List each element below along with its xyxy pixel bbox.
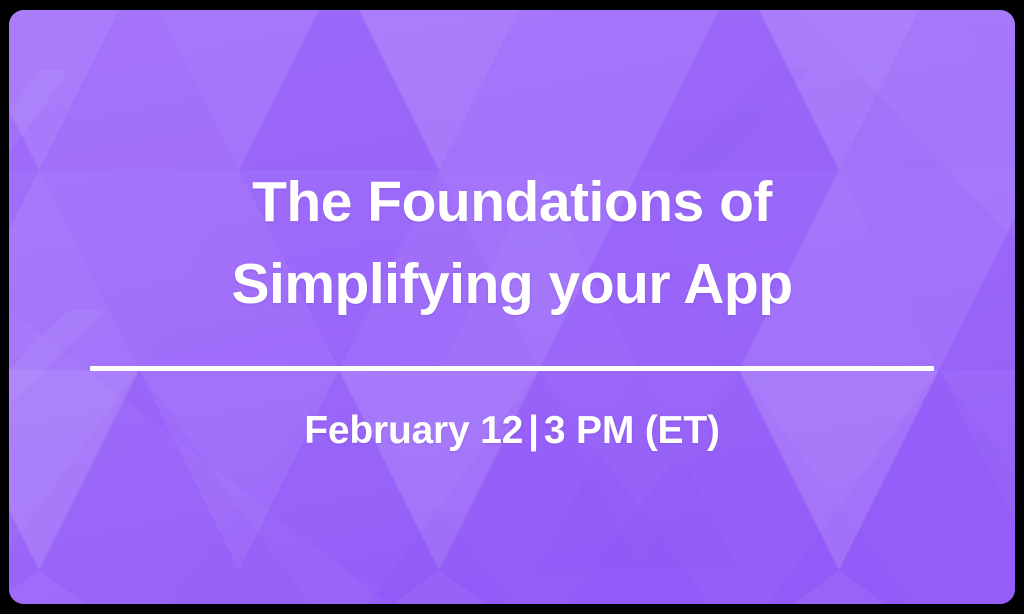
banner-date-separator: | (523, 409, 544, 452)
banner-root: The Foundations of Simplifying your App … (0, 0, 1024, 614)
banner-date-time: 3 PM (ET) (544, 409, 720, 452)
banner-title-line-2: Simplifying your App (231, 243, 792, 325)
banner-date: February 12|3 PM (ET) (304, 371, 720, 453)
banner-date-day: February 12 (304, 409, 523, 452)
banner-content: The Foundations of Simplifying your App … (9, 10, 1015, 604)
banner-title: The Foundations of Simplifying your App (231, 161, 792, 325)
webinar-promo-card[interactable]: The Foundations of Simplifying your App … (9, 10, 1015, 604)
banner-title-line-1: The Foundations of (231, 161, 792, 243)
